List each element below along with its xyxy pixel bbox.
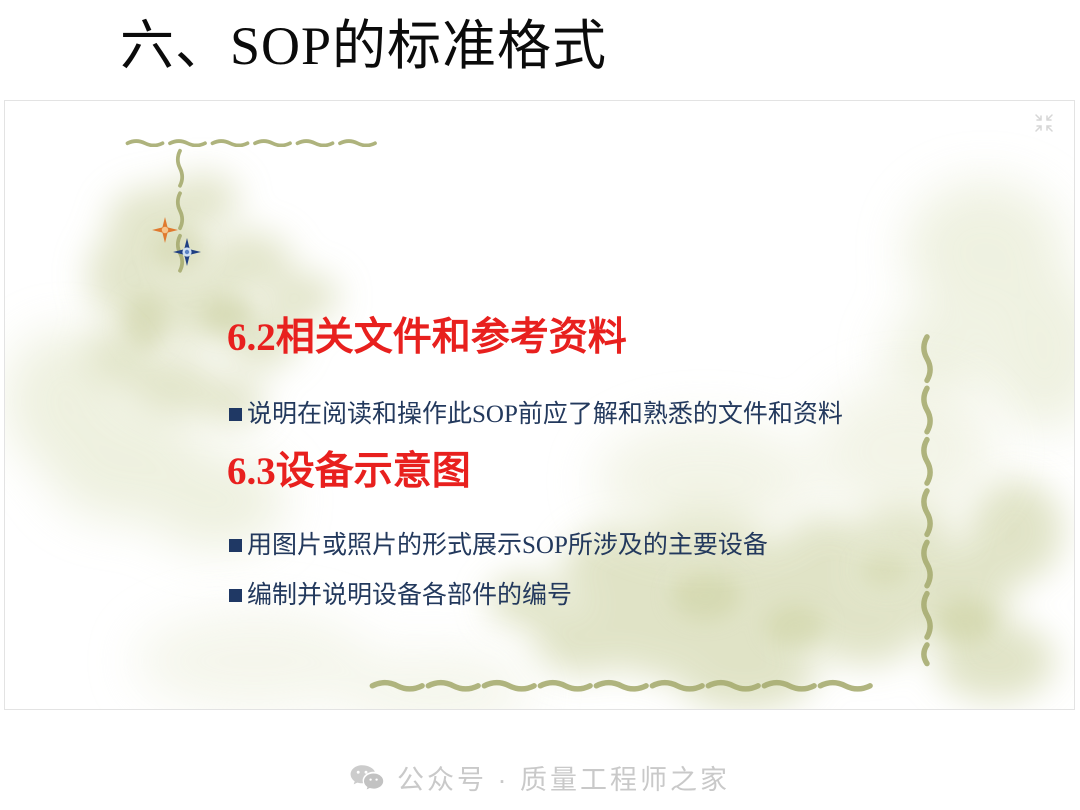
bullet-square-icon	[229, 539, 242, 552]
bullet-item: 用图片或照片的形式展示SOP所涉及的主要设备	[229, 530, 768, 562]
slide-frame: 6.2相关文件和参考资料 说明在阅读和操作此SOP前应了解和熟悉的文件和资料 6…	[4, 100, 1075, 710]
bullet-label: 说明在阅读和操作此SOP前应了解和熟悉的文件和资料	[247, 399, 843, 431]
bullet-item: 说明在阅读和操作此SOP前应了解和熟悉的文件和资料	[229, 399, 843, 431]
wechat-icon	[350, 763, 384, 793]
bullet-square-icon	[229, 408, 242, 421]
bullet-label: 编制并说明设备各部件的编号	[247, 580, 572, 612]
bullet-square-icon	[229, 589, 242, 602]
slide-content: 6.2相关文件和参考资料 说明在阅读和操作此SOP前应了解和熟悉的文件和资料 6…	[5, 101, 1074, 709]
bullet-label: 用图片或照片的形式展示SOP所涉及的主要设备	[247, 530, 768, 562]
bullet-item: 编制并说明设备各部件的编号	[229, 580, 572, 612]
section-heading-6-2: 6.2相关文件和参考资料	[227, 315, 627, 361]
footer-label: 公众号 · 质量工程师之家	[397, 758, 730, 797]
section-heading-6-3: 6.3设备示意图	[227, 449, 471, 495]
page-title: 六、SOP的标准格式	[120, 8, 607, 84]
footer-watermark: 公众号 · 质量工程师之家	[0, 745, 1080, 810]
